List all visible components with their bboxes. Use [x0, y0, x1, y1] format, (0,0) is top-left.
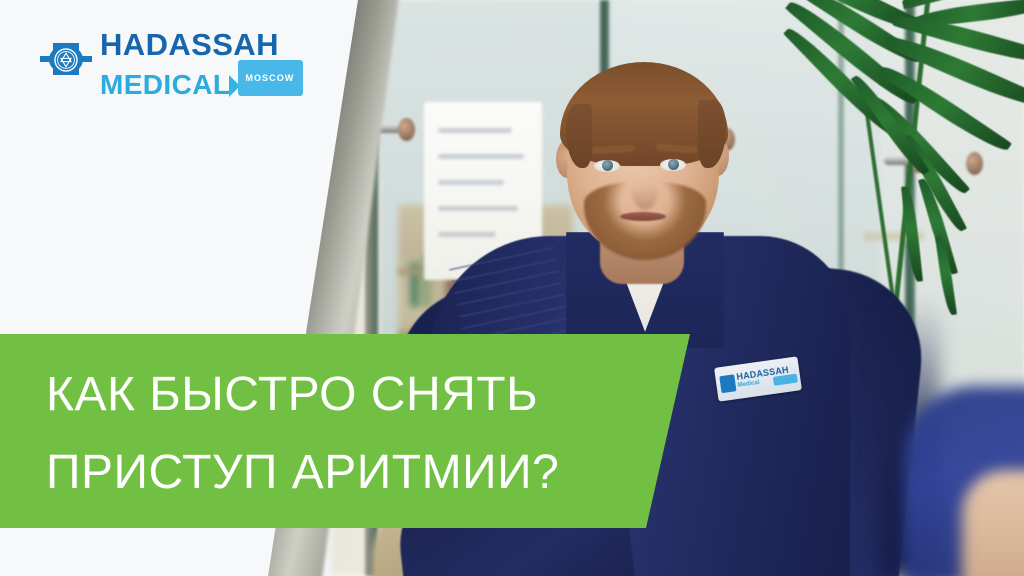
hadassah-h-emblem-icon [40, 30, 92, 88]
brand-name-top: HADASSAH [100, 30, 303, 60]
iris-right [668, 159, 679, 170]
brand-wordmark: HADASSAH MEDICAL MOSCOW [100, 30, 303, 99]
star-of-david-seal-icon [49, 45, 83, 74]
title-line-1: КАК БЫСТРО СНЯТЬ [46, 356, 646, 434]
title-banner: КАК БЫСТРО СНЯТЬ ПРИСТУП АРИТМИИ? [0, 334, 700, 528]
title-line-2: ПРИСТУП АРИТМИИ? [46, 434, 646, 512]
mouth [620, 212, 666, 221]
hair [560, 62, 728, 166]
brand-logo[interactable]: HADASSAH MEDICAL MOSCOW [40, 30, 270, 92]
brand-name-bottom: MEDICAL [100, 71, 230, 99]
video-thumbnail: HADASSAH Medical [0, 0, 1024, 576]
foreground-arm-blurred [962, 470, 1024, 576]
badge-city-chip [773, 374, 798, 386]
iris-left [602, 160, 613, 171]
brand-city-chip: MOSCOW [238, 60, 303, 96]
badge-logo-icon [719, 374, 736, 393]
title-text: КАК БЫСТРО СНЯТЬ ПРИСТУП АРИТМИИ? [46, 356, 646, 512]
